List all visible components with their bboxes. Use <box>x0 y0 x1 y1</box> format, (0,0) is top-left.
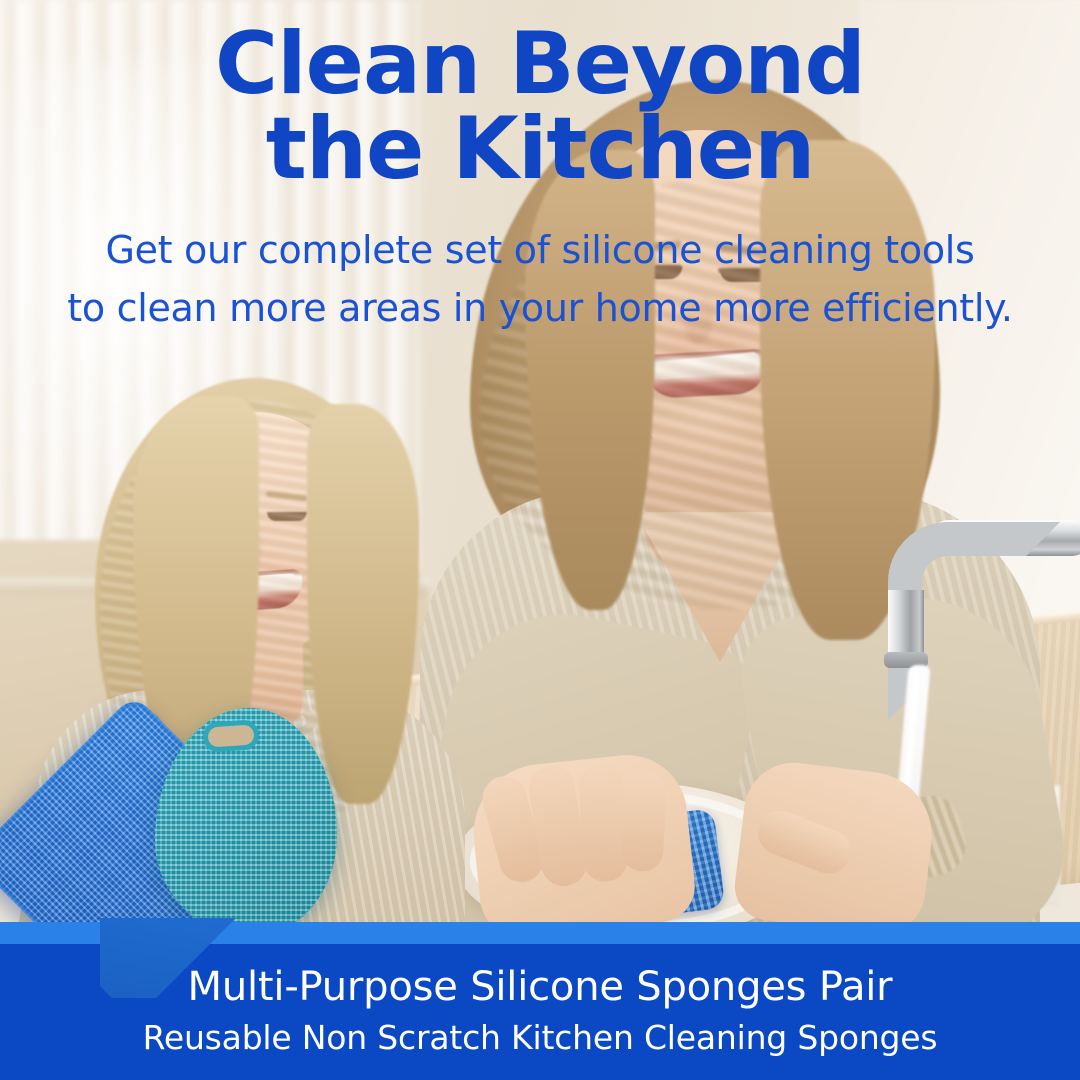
thumb <box>752 804 857 879</box>
finger <box>620 770 667 872</box>
banner-title: Multi-Purpose Silicone Sponges Pair <box>0 964 1080 1010</box>
finger <box>578 763 629 883</box>
woman-left-hand <box>467 749 699 941</box>
headline: Clean Beyond the Kitchen <box>0 22 1080 192</box>
subheadline: Get our complete set of silicone cleanin… <box>0 222 1080 338</box>
oval-sponge-hanging-slot <box>207 724 254 747</box>
banner-subtitle: Reusable Non Scratch Kitchen Cleaning Sp… <box>0 1018 1080 1057</box>
product-marketing-image: Clean Beyond the Kitchen Get our complet… <box>0 0 1080 1080</box>
